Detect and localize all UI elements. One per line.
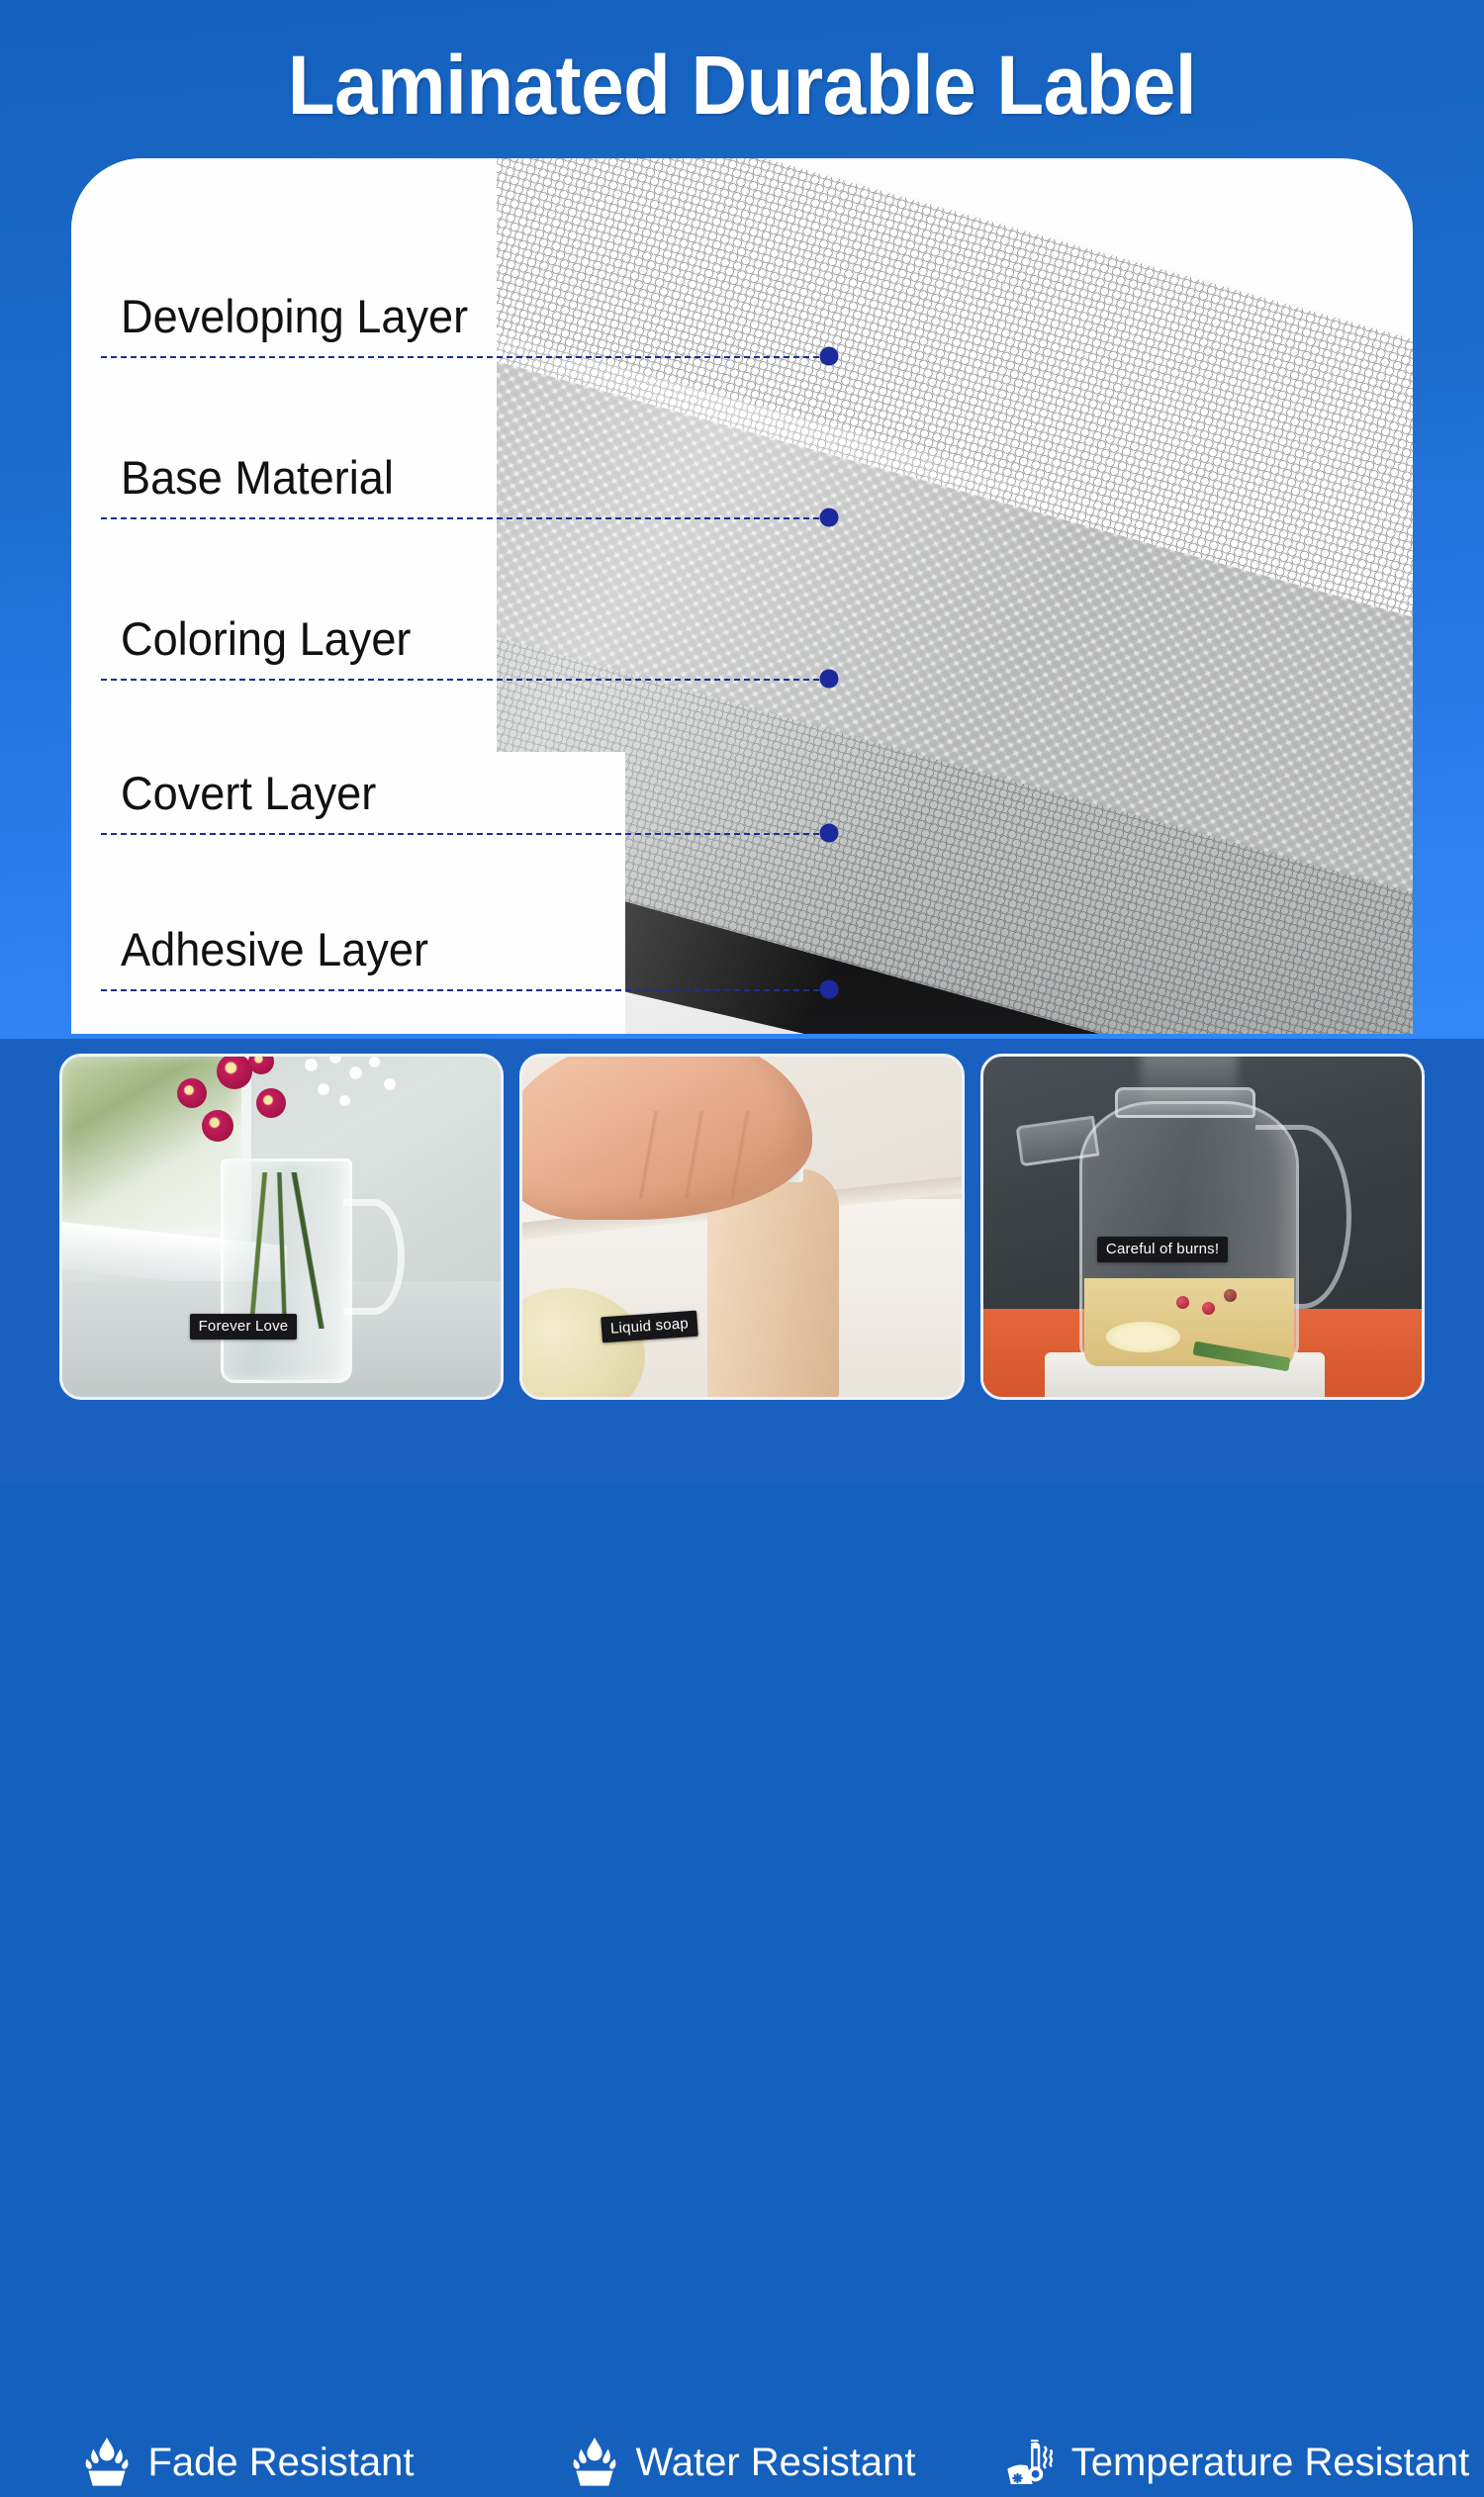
water-splash-icon [568,2436,621,2489]
feature-label: Fade Resistant [147,2441,414,2485]
thermometer-snow-icon [1004,2436,1058,2489]
layer-label-adhesive: Adhesive Layer [121,922,428,976]
leader-line-adhesive [101,989,829,991]
photo-glass-teapot: Careful of burns! [980,1054,1425,1400]
layer-label-base-material: Base Material [121,450,394,505]
photo-gallery: Forever Love Liquid soap [59,1054,1425,1400]
water-splash-icon [80,2436,134,2489]
leader-dot-covert [820,824,839,843]
leader-dot-base-material [820,509,839,527]
leader-line-developing [101,356,829,358]
fingers [619,1111,794,1199]
teapot-lid [1115,1087,1255,1118]
leader-line-coloring [101,679,829,681]
page-title: Laminated Durable Label [52,44,1433,127]
feature-caption-row: Fade Resistant Water Resistant [0,2428,1484,2497]
photo-flower-pitcher: Forever Love [59,1054,504,1400]
flower-stems [233,1172,338,1329]
feature-label: Temperature Resistant [1071,2441,1469,2485]
leader-dot-developing [820,347,839,366]
leader-dot-coloring [820,670,839,689]
layer-label-covert: Covert Layer [121,766,376,820]
feature-strip: Forever Love Liquid soap [0,1039,1484,1484]
leader-line-base-material [101,517,829,519]
photo-soap-dispenser: Liquid soap [519,1054,964,1400]
feature-label: Water Resistant [635,2441,915,2485]
feature-temperature-resistant: Temperature Resistant [989,2428,1484,2497]
leader-line-covert [101,833,829,835]
pitcher-handle [343,1199,405,1315]
leader-dot-adhesive [820,980,839,999]
feature-water-resistant: Water Resistant [495,2428,989,2497]
label-tag: Careful of burns! [1097,1237,1228,1262]
layer-diagram-card: Developing Layer Base Material Coloring … [71,158,1413,1034]
label-tag: Forever Love [190,1314,298,1340]
layer-label-coloring: Coloring Layer [121,611,411,666]
flower-bouquet [167,1054,413,1169]
layer-label-developing: Developing Layer [121,289,468,343]
feature-fade-resistant: Fade Resistant [0,2428,495,2497]
